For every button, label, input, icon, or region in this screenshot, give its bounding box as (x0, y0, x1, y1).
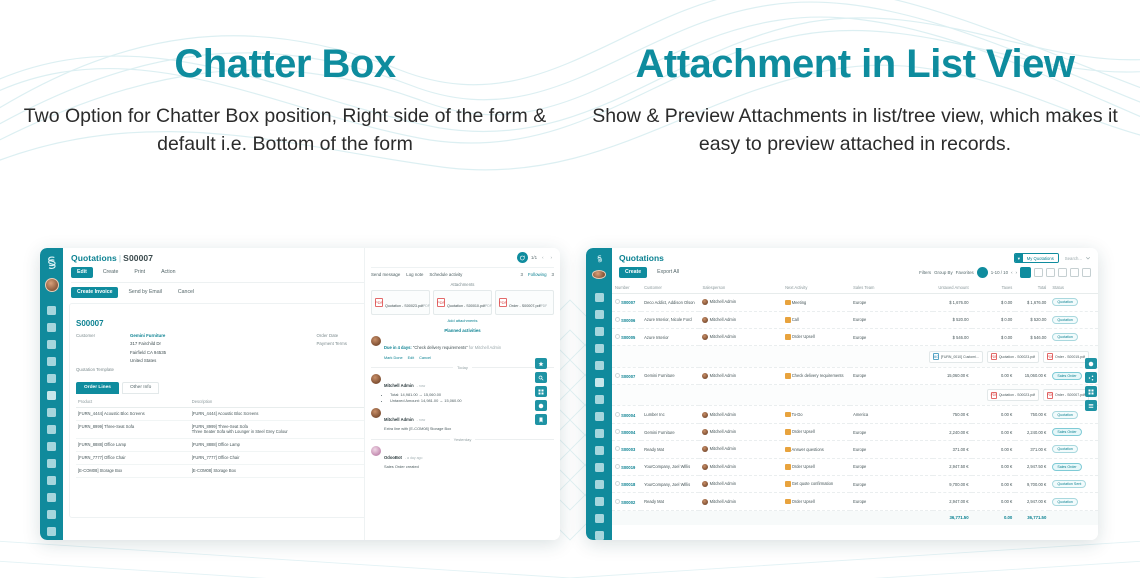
cell-next-activity: Get quote confirmation (782, 475, 850, 492)
col-sales-team[interactable]: Sales Team (850, 282, 933, 294)
list-page-title: Quotations (619, 253, 664, 263)
table-row[interactable]: S00005Azure Interior Mitchell Admin Orde… (612, 328, 1098, 345)
search-input[interactable]: Search... (1062, 256, 1082, 261)
inventory-icon[interactable] (595, 412, 604, 421)
pivot-view-icon[interactable] (1058, 268, 1067, 277)
message-body-2: Mitchell Admin- now Extra line with [E-C… (384, 408, 451, 432)
cell-total: 2,240.00 € (1015, 423, 1049, 440)
field-value-street: 317 Fairchild Dr (130, 341, 161, 348)
field-customer: Customer Gemini Furniture (76, 333, 307, 340)
footer-total: 36,771.50 (1015, 510, 1049, 525)
col-next-activity[interactable]: Next Activity (782, 282, 850, 294)
col-salesperson[interactable]: Salesperson (699, 282, 782, 294)
graph-view-icon[interactable] (1070, 268, 1079, 277)
cell-taxes: $ 0.00 (972, 294, 1016, 311)
cell-taxes: 0.00 € (972, 423, 1016, 440)
planned-activities-label: Planned activities (371, 328, 554, 333)
floating-toolbar-left[interactable] (535, 358, 547, 425)
cell-status: Quotation (1049, 441, 1098, 458)
row-checkbox[interactable] (615, 373, 620, 378)
status-badge: Quotation (1052, 498, 1078, 506)
chatter-panel: 1/1 ‹ › Send message Log note Schedule a… (364, 248, 560, 540)
cell-sales-team: Europe (850, 493, 933, 510)
cell-salesperson: Mitchell Admin (699, 294, 782, 311)
pager-prev-button[interactable]: ‹ (540, 255, 545, 260)
settings-icon[interactable] (47, 527, 56, 536)
manufacturing-icon[interactable] (47, 442, 56, 451)
cell-customer: Deco Addict, Addison Olson (641, 294, 699, 311)
col-product[interactable]: Product (76, 396, 190, 408)
row-checkbox[interactable] (615, 334, 620, 339)
cell-next-activity: Order Upsell (782, 328, 850, 345)
home-icon[interactable] (595, 293, 604, 302)
cell-number: S00019 (612, 458, 641, 475)
pdf-icon: PDF (1047, 392, 1053, 399)
row-checkbox[interactable] (615, 299, 620, 304)
table-row[interactable]: S00002Ready Mat Mitchell Admin Order Ups… (612, 493, 1098, 510)
cell-untaxed-amount: $ 520.00 (933, 311, 972, 328)
record-number[interactable]: S00019 (621, 465, 635, 470)
attachment-chips: IMG[FURN_0010] Customi...PDFQuotation - … (615, 351, 1095, 363)
recruitment-icon[interactable] (595, 497, 604, 506)
calendar-icon[interactable] (595, 327, 604, 336)
attachment-type: PDF (541, 304, 548, 308)
attachment-card[interactable]: PDFQuotation - S00023.pdfPDF (371, 290, 430, 315)
cell-untaxed-amount: 2,947.50 € (933, 458, 972, 475)
action-button[interactable]: Action (155, 267, 181, 278)
cell-salesperson: Mitchell Admin (699, 423, 782, 440)
screenshot-form-view: Quotations|S00007 Edit Create Print Acti… (40, 248, 560, 540)
table-row[interactable]: S00004Gemini Furniture Mitchell Admin Or… (612, 423, 1098, 440)
message-body-3: OdooBot- a day ago Sales Order created (384, 446, 422, 470)
following-button[interactable]: Following (528, 272, 547, 277)
cell-next-activity: Order Upsell (782, 493, 850, 510)
cell-customer: YourCompany, Joel Willis (641, 475, 699, 492)
cell-taxes: 0.00 € (972, 441, 1016, 458)
field-label-blank-2 (76, 350, 124, 357)
attachment-meta: Order - S00007.pdfPDF (509, 294, 547, 312)
cell-untaxed-amount: 2,947.00 € (933, 493, 972, 510)
status-badge: Quotation (1052, 298, 1078, 306)
table-row[interactable]: S00007Gemini Furniture Mitchell Admin Ch… (612, 367, 1098, 384)
col-status[interactable]: Status (1049, 282, 1098, 294)
settings-icon[interactable] (535, 400, 547, 411)
odoo-logo-icon[interactable] (43, 254, 60, 271)
quotations-table: Number Customer Salesperson Next Activit… (612, 282, 1098, 525)
log-note-button[interactable]: Log note (406, 272, 423, 277)
pdf-icon: PDF (375, 298, 383, 307)
table-row[interactable]: S00019YourCompany, Joel Willis Mitchell … (612, 458, 1098, 475)
settings-icon[interactable] (595, 531, 604, 540)
image-icon: IMG (933, 353, 939, 360)
pager-next-button[interactable]: › (549, 255, 554, 260)
crm-icon[interactable] (47, 374, 56, 383)
create-invoice-button[interactable]: Create Invoice (71, 287, 118, 298)
record-number[interactable]: S00018 (621, 482, 635, 487)
message-author-2: Mitchell Admin (384, 417, 414, 422)
avatar (702, 446, 708, 452)
search-facet-my-quotations[interactable]: ▼ My Quotations (1014, 253, 1059, 263)
cell-next-activity: Order Upsell (782, 458, 850, 475)
description-line: Three Seater Sofa with Lounger in Steel … (192, 429, 349, 434)
send-message-button[interactable]: Send message (371, 272, 400, 277)
cell-sales-team: Europe (850, 311, 933, 328)
question-icon (785, 447, 791, 453)
chatter-toggle-button[interactable] (517, 252, 528, 263)
message-time-2: - now (417, 418, 426, 422)
cell-taxes: 0.00 € (972, 475, 1016, 492)
sales-icon[interactable] (595, 378, 604, 387)
footer-taxes: 0.00 (972, 510, 1016, 525)
create-button[interactable]: Create (97, 267, 125, 278)
sidebar-app-icons[interactable] (595, 293, 604, 540)
pdf-icon: PDF (991, 353, 997, 360)
cell-total: 9,700.00 € (1015, 475, 1049, 492)
page-title-attachment: Attachment in List View (570, 42, 1140, 86)
col-description[interactable]: Description (190, 396, 351, 408)
cell-next-activity: Check delivery requirements (782, 367, 850, 384)
quotations-header-row: Number Customer Salesperson Next Activit… (612, 282, 1098, 294)
pdf-icon: PDF (1047, 353, 1053, 360)
project-icon[interactable] (595, 446, 604, 455)
chatter-pager-row: 1/1 ‹ › (371, 252, 554, 263)
attachment-row: PDFQuotation - S00023.pdfPDFOrder - S000… (612, 385, 1098, 406)
description-line: [FURN_7777] Office Chair (192, 455, 349, 460)
cancel-activity-link[interactable]: Cancel (419, 356, 431, 360)
home-icon[interactable] (47, 306, 56, 315)
table-row[interactable]: S00003Ready Mat Mitchell Admin Answer qu… (612, 441, 1098, 458)
employees-icon[interactable] (595, 480, 604, 489)
upsell-icon (785, 464, 791, 470)
attachment-chip[interactable]: PDFOrder - S00015.pdf (1043, 351, 1089, 363)
attachment-chip-label: Quotation - S00023.pdf (999, 393, 1035, 397)
follower-count-badge[interactable]: 3 (552, 272, 554, 277)
cell-salesperson: Mitchell Admin (699, 475, 782, 492)
grid-icon[interactable] (535, 386, 547, 397)
status-badge: Quotation (1052, 445, 1078, 453)
avatar-activity (371, 336, 381, 346)
cell-sales-team: Europe (850, 328, 933, 345)
heading-column-attachment: Attachment in List View Show & Preview A… (570, 0, 1140, 215)
record-number[interactable]: S00007 (621, 374, 635, 379)
attachment-chips: PDFQuotation - S00023.pdfPDFOrder - S000… (615, 389, 1095, 401)
quotations-table-body: S00007Deco Addict, Addison Olson Mitchel… (612, 294, 1098, 525)
attachment-chip-label: Quotation - S00023.pdf (999, 355, 1035, 359)
cell-number: S00002 (612, 493, 641, 510)
avatar-message-1 (371, 374, 381, 384)
attachment-chip[interactable]: PDFQuotation - S00023.pdf (987, 389, 1039, 401)
filters-button[interactable]: Filters (919, 270, 931, 275)
cell-number: S00006 (612, 311, 641, 328)
calendar-icon (785, 373, 791, 379)
attachment-name: Quotation - S00010.pdf (447, 304, 485, 308)
odoo-logo-icon[interactable] (591, 254, 608, 263)
message-time-3: - a day ago (405, 456, 423, 460)
activity-view-icon[interactable] (1082, 268, 1091, 277)
attachment-type: PDF (423, 304, 430, 308)
chatter-toggle-button[interactable] (977, 267, 988, 278)
cell-status: Quotation (1049, 328, 1098, 345)
table-row[interactable]: S00007Deco Addict, Addison Olson Mitchel… (612, 294, 1098, 311)
message-text-2: Extra line with [E-COM08] Storage Box (384, 426, 451, 432)
cell-total: 750.00 € (1015, 406, 1049, 423)
cell-taxes: 0.00 € (972, 406, 1016, 423)
screenshot-list-view: Quotations ▼ My Quotations Search... Cre… (586, 248, 1098, 540)
cell-sales-team: Europe (850, 441, 933, 458)
attachment-chip[interactable]: PDFOrder - S00007.pdf (1043, 389, 1089, 401)
attachment-name: Quotation - S00023.pdf (385, 304, 423, 308)
chatter-pager: 1/1 (531, 255, 537, 260)
star-icon[interactable] (535, 358, 547, 369)
group-by-button[interactable]: Group By (934, 270, 953, 275)
cell-taxes: $ 0.00 (972, 311, 1016, 328)
search-facet-label: My Quotations (1023, 254, 1058, 262)
megaphone-icon[interactable] (47, 323, 56, 332)
mark-done-link[interactable]: Mark Done (384, 356, 403, 360)
share-icon[interactable] (1085, 372, 1097, 383)
avatar-sidebar[interactable] (45, 278, 59, 292)
cell-status: Sales Order (1049, 423, 1098, 440)
list-main-area: Quotations ▼ My Quotations Search... Cre… (612, 248, 1098, 540)
manufacturing-icon[interactable] (595, 429, 604, 438)
cell-product: [FURN_7777] Office Chair (76, 451, 190, 464)
app-sidebar-right[interactable] (586, 248, 612, 540)
accounting-icon[interactable] (595, 463, 604, 472)
accounting-icon[interactable] (47, 459, 56, 468)
table-row[interactable]: S00004Lumber Inc Mitchell Admin To-DoAme… (612, 406, 1098, 423)
message-item: Mitchell Admin- now Total: 14,981.00 → 1… (371, 374, 554, 404)
chatter-toolbar: Send message Log note Schedule activity … (371, 267, 554, 277)
field-label-customer: Customer (76, 333, 124, 340)
attachment-count[interactable]: 3 (521, 272, 523, 277)
activity-body: Due in 4 days: "Check delivery requireme… (384, 336, 501, 360)
cell-number: S00005 (612, 328, 641, 345)
pdf-icon: PDF (991, 392, 997, 399)
activity-assignee: for Mitchell Admin (469, 345, 501, 350)
cell-sales-team: Europe (850, 475, 933, 492)
cell-product: [FURN_8999] Three-Seat Sofa (76, 420, 190, 438)
sidebar-app-icons[interactable] (47, 306, 56, 536)
activity-due: Due in 4 days: (384, 345, 412, 350)
search-bar[interactable]: ▼ My Quotations Search... (1014, 253, 1091, 263)
footer-status-cell (1049, 510, 1098, 525)
row-checkbox[interactable] (615, 464, 620, 469)
search-icon[interactable] (535, 372, 547, 383)
contacts-icon[interactable] (47, 357, 56, 366)
col-untaxed-amount[interactable]: Untaxed Amount (933, 282, 972, 294)
cell-taxes: 0.00 € (972, 493, 1016, 510)
field-label-quotation-template: Quotation Template (76, 367, 124, 374)
tab-order-lines[interactable]: Order Lines (76, 382, 119, 394)
upsell-icon (785, 429, 791, 435)
footer-blank-cell (782, 510, 850, 525)
record-number[interactable]: S00006 (621, 318, 635, 323)
page-subtitle-chatter: Two Option for Chatter Box position, Rig… (0, 102, 570, 159)
record-number[interactable]: S00002 (621, 500, 635, 505)
crm-icon[interactable] (595, 361, 604, 370)
create-button[interactable]: Create (619, 267, 647, 278)
cell-description: [FURN_4444] Acoustic Bloc Screens (190, 407, 351, 420)
cell-number: S00007 (612, 367, 641, 384)
recruitment-icon[interactable] (47, 493, 56, 502)
calendar-icon[interactable] (47, 340, 56, 349)
field-label-blank-1 (76, 341, 124, 348)
pager-prev-button[interactable]: ‹ (1011, 270, 1012, 275)
list-pager: 1-10 / 10 (991, 270, 1008, 275)
funnel-icon: ▼ (1015, 254, 1023, 262)
cell-next-activity: Meeting (782, 294, 850, 311)
cell-total: $ 520.00 (1015, 311, 1049, 328)
description-line: [FURN_4444] Acoustic Bloc Screens (192, 411, 349, 416)
col-customer[interactable]: Customer (641, 282, 699, 294)
attachment-chip[interactable]: PDFQuotation - S00023.pdf (987, 351, 1039, 363)
app-sidebar-left[interactable] (40, 248, 63, 540)
cell-status: Quotation Sent (1049, 475, 1098, 492)
pager-next-button[interactable]: › (1016, 270, 1017, 275)
list-icon[interactable] (1085, 400, 1097, 411)
table-row[interactable]: S00006Azure Interior, Nicole Ford Mitche… (612, 311, 1098, 328)
message-bullets-1: Total: 14,981.00 → 15,060.00 Untaxed Amo… (384, 392, 462, 404)
table-row[interactable]: S00018YourCompany, Joel Willis Mitchell … (612, 475, 1098, 492)
floating-toolbar-right[interactable] (1085, 358, 1097, 411)
cell-customer: Azure Interior (641, 328, 699, 345)
cell-salesperson: Mitchell Admin (699, 458, 782, 475)
record-number[interactable]: S00007 (621, 300, 635, 305)
status-badge: Quotation (1052, 411, 1078, 419)
employees-icon[interactable] (47, 476, 56, 485)
sales-icon[interactable] (47, 391, 56, 400)
footer-untaxed: 36,771.50 (933, 510, 972, 525)
apps-icon[interactable] (47, 510, 56, 519)
contacts-icon[interactable] (595, 344, 604, 353)
attachment-row: IMG[FURN_0010] Customi...PDFQuotation - … (612, 346, 1098, 367)
list-control-panel: Quotations ▼ My Quotations Search... (612, 248, 1098, 263)
heading-column-chatter: Chatter Box Two Option for Chatter Box p… (0, 0, 570, 215)
cell-total: 371.00 € (1015, 441, 1049, 458)
apps-icon[interactable] (595, 514, 604, 523)
cell-product: [FURN_4444] Acoustic Bloc Screens (76, 407, 190, 420)
attachments-section-label: Attachments (371, 282, 554, 287)
attachment-meta: Quotation - S00010.pdfPDF (447, 294, 488, 312)
cell-total: 2,947.00 € (1015, 493, 1049, 510)
headings-block: Chatter Box Two Option for Chatter Box p… (0, 0, 1140, 215)
row-checkbox[interactable] (615, 446, 620, 451)
cell-untaxed-amount: $ 546.00 (933, 328, 972, 345)
row-checkbox[interactable] (615, 499, 620, 504)
edit-button[interactable]: Edit (71, 267, 93, 278)
field-value-customer[interactable]: Gemini Furniture (130, 333, 165, 340)
cell-description: [FURN_7777] Office Chair (190, 451, 351, 464)
row-checkbox[interactable] (615, 317, 620, 322)
field-value-city: Fairfield CA 94535 (130, 350, 166, 357)
attachment-chip[interactable]: IMG[FURN_0010] Customi... (929, 351, 983, 363)
table-footer-row: 36,771.500.0036,771.50 (612, 510, 1098, 525)
calendar-view-icon[interactable] (1046, 268, 1055, 277)
favorites-button[interactable]: Favorites (956, 270, 974, 275)
cell-status: Sales Order (1049, 458, 1098, 475)
attachment-meta: Quotation - S00023.pdfPDF (385, 294, 426, 312)
activity-line: Due in 4 days: "Check delivery requireme… (384, 345, 501, 350)
export-all-button[interactable]: Export All (651, 267, 685, 278)
cell-sales-team: Europe (850, 423, 933, 440)
cell-untaxed-amount: $ 1,676.00 (933, 294, 972, 311)
send-by-email-button[interactable]: Send by Email (122, 287, 167, 298)
avatar (702, 412, 708, 418)
attachment-chip-label: [FURN_0010] Customi... (941, 355, 979, 359)
attachment-card[interactable]: PDFQuotation - S00010.pdfPDF (433, 290, 492, 315)
description-line: [FURN_8888] Office Lamp (192, 442, 349, 447)
row-checkbox[interactable] (615, 429, 620, 434)
activity-links: Mark Done Edit Cancel (384, 356, 501, 360)
purchase-icon[interactable] (595, 395, 604, 404)
status-badge: Sales Order (1052, 463, 1081, 471)
purchase-icon[interactable] (47, 408, 56, 417)
bookmark-icon[interactable] (535, 414, 547, 425)
form-main-area: Quotations|S00007 Edit Create Print Acti… (63, 248, 560, 540)
col-total[interactable]: Total (1015, 282, 1049, 294)
day-today-label: Today (457, 365, 468, 370)
schedule-activity-button[interactable]: Schedule activity (429, 272, 462, 277)
field-quotation-template: Quotation Template (76, 367, 307, 374)
megaphone-icon[interactable] (595, 310, 604, 319)
cell-salesperson: Mitchell Admin (699, 493, 782, 510)
list-toolbar: Create Export All Filters Group By Favor… (612, 263, 1098, 278)
breadcrumb-app[interactable]: Quotations (71, 253, 117, 263)
record-number[interactable]: S00004 (621, 430, 635, 435)
field-label-blank-3 (76, 358, 124, 365)
col-number[interactable]: Number (612, 282, 641, 294)
print-button[interactable]: Print (128, 267, 151, 278)
attachment-name: Order - S00007.pdf (509, 304, 541, 308)
settings-icon[interactable] (1085, 358, 1097, 369)
tab-other-info[interactable]: Other Info (122, 382, 159, 394)
description-line: [E-COM08] Storage Box (192, 468, 349, 473)
list-view-icon[interactable] (1020, 267, 1031, 278)
attachment-type: PDF (485, 304, 492, 308)
row-checkbox[interactable] (615, 481, 620, 486)
col-taxes[interactable]: Taxes (972, 282, 1016, 294)
avatar-sidebar[interactable] (592, 270, 606, 279)
cell-product: [FURN_8888] Office Lamp (76, 438, 190, 451)
page-title-chatter: Chatter Box (0, 42, 570, 86)
cell-number: S00003 (612, 441, 641, 458)
cell-total: $ 546.00 (1015, 328, 1049, 345)
inventory-icon[interactable] (47, 425, 56, 434)
edit-activity-link[interactable]: Edit (408, 356, 415, 360)
chevron-down-icon[interactable] (1085, 255, 1091, 261)
cell-salesperson: Mitchell Admin (699, 441, 782, 458)
cell-customer: Azure Interior, Nicole Ford (641, 311, 699, 328)
field-value-country: United States (130, 358, 156, 365)
add-attachments-button[interactable]: Add attachments (371, 318, 554, 323)
cell-description: [E-COM08] Storage Box (190, 464, 351, 477)
record-number[interactable]: S00004 (621, 413, 635, 418)
status-badge: Quotation (1052, 316, 1078, 324)
row-checkbox[interactable] (615, 412, 620, 417)
record-number[interactable]: S00005 (621, 335, 635, 340)
avatar (702, 373, 708, 379)
cancel-button[interactable]: Cancel (172, 287, 200, 298)
day-separator-yesterday: Yesterday (371, 437, 554, 442)
avatar (702, 317, 708, 323)
record-number[interactable]: S00003 (621, 447, 635, 452)
cell-salesperson: Mitchell Admin (699, 311, 782, 328)
message-item: Mitchell Admin- now Extra line with [E-C… (371, 408, 554, 432)
grid-icon[interactable] (1085, 386, 1097, 397)
kanban-view-icon[interactable] (1034, 268, 1043, 277)
attachment-card[interactable]: PDFOrder - S00007.pdfPDF (495, 290, 554, 315)
cell-total: $ 1,676.00 (1015, 294, 1049, 311)
